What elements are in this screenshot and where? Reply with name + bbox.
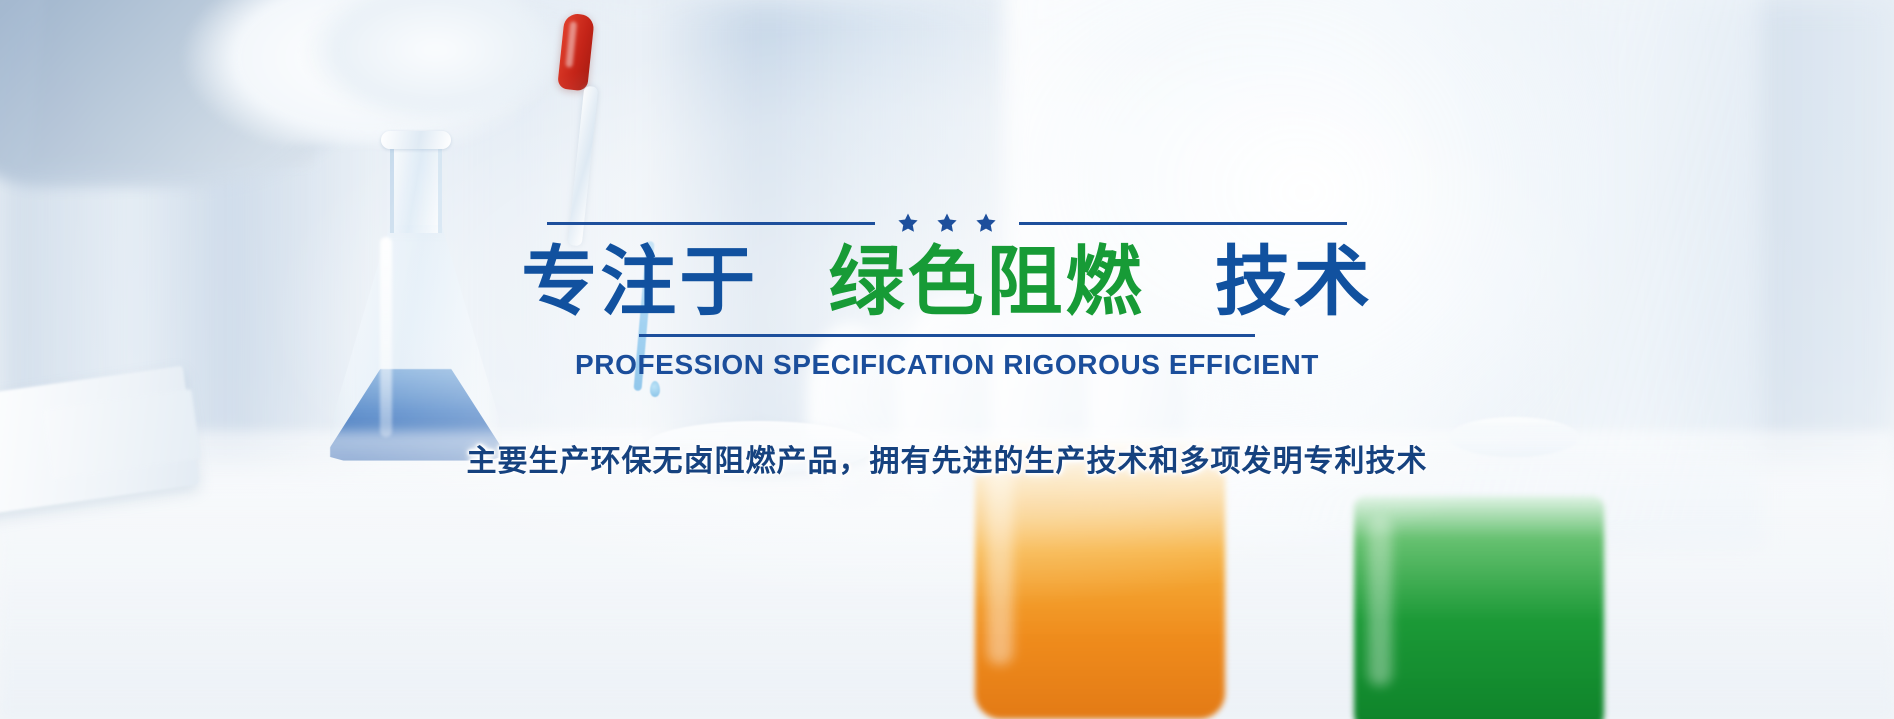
star-icon [936, 212, 958, 234]
star-icon [975, 212, 997, 234]
star-icon [897, 212, 919, 234]
subtitle-english: PROFESSION SPECIFICATION RIGOROUS EFFICI… [575, 349, 1319, 381]
divider-line-subtitle [639, 334, 1255, 337]
divider-line-right [1019, 222, 1347, 225]
divider-with-stars [547, 212, 1347, 234]
star-group [897, 212, 997, 234]
hero-banner: 专注于 绿色阻燃 技术 PROFESSION SPECIFICATION RIG… [0, 0, 1894, 719]
divider-line-left [547, 222, 875, 225]
headline-part-3: 技术 [1215, 240, 1373, 325]
banner-content: 专注于 绿色阻燃 技术 PROFESSION SPECIFICATION RIG… [0, 0, 1894, 719]
tagline-chinese: 主要生产环保无卤阻燃产品，拥有先进的生产技术和多项发明专利技术 [467, 436, 1428, 480]
headline: 专注于 绿色阻燃 技术 [521, 243, 1373, 323]
headline-part-1: 专注于 [521, 240, 758, 325]
headline-part-2: 绿色阻燃 [829, 240, 1145, 325]
